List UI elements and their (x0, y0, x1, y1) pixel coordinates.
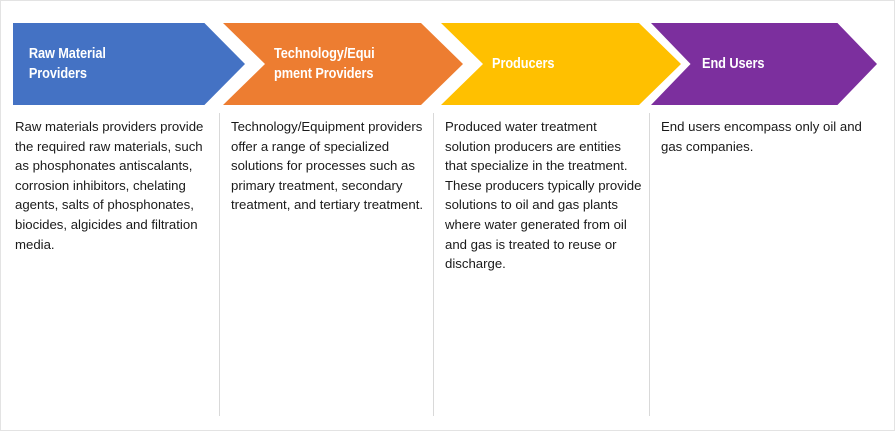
stage-description-column-end-users: End users encompass only oil and gas com… (661, 113, 876, 416)
stage-description-text: Raw materials providers provide the requ… (15, 113, 215, 254)
stage-description-text: End users encompass only oil and gas com… (661, 113, 876, 156)
stage-arrow-label-technology-equipment-providers: Technology/Equi pment Providers (223, 44, 375, 84)
stage-description-column-producers: Produced water treatment solution produc… (445, 113, 643, 416)
value-chain-figure: Raw Material Providers Technology/Equi p… (0, 0, 895, 431)
stage-arrow-producers[interactable]: Producers (441, 23, 681, 105)
stage-description-columns: Raw materials providers provide the requ… (1, 113, 895, 416)
stage-arrow-end-users[interactable]: End Users (651, 23, 877, 105)
stage-arrow-raw-material-providers[interactable]: Raw Material Providers (13, 23, 245, 105)
stage-arrow-label-raw-material-providers: Raw Material Providers (13, 44, 106, 84)
stage-description-column-technology-equipment-providers: Technology/Equipment providers offer a r… (231, 113, 429, 416)
stage-arrow-technology-equipment-providers[interactable]: Technology/Equi pment Providers (223, 23, 463, 105)
stage-description-text: Produced water treatment solution produc… (445, 113, 643, 274)
stage-description-column-raw-material-providers: Raw materials providers provide the requ… (15, 113, 215, 416)
stage-description-text: Technology/Equipment providers offer a r… (231, 113, 429, 215)
stage-arrow-band: Raw Material Providers Technology/Equi p… (1, 1, 895, 113)
